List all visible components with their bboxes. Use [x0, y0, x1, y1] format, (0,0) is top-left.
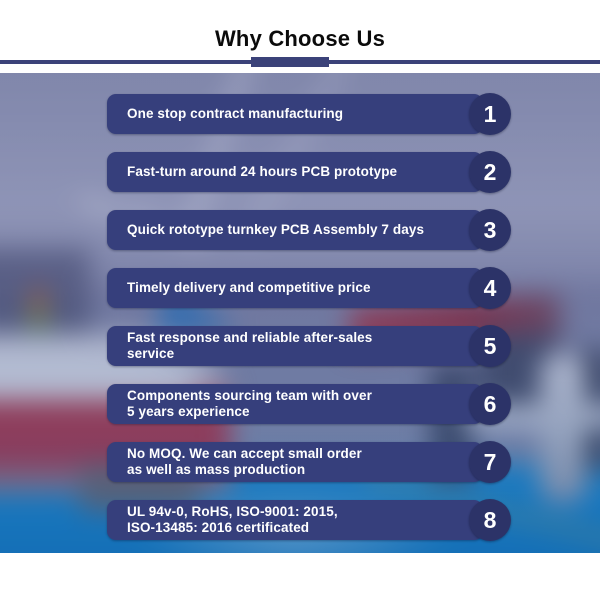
list-item[interactable]: No MOQ. We can accept small order as wel… [107, 442, 512, 482]
list-item[interactable]: Fast response and reliable after-sales s… [107, 326, 512, 366]
feature-number-badge: 8 [469, 499, 511, 541]
feature-number-badge: 2 [469, 151, 511, 193]
page-title: Why Choose Us [0, 26, 600, 52]
feature-list: One stop contract manufacturing 1 Fast-t… [0, 73, 600, 553]
feature-number-badge: 4 [469, 267, 511, 309]
feature-number-badge: 7 [469, 441, 511, 483]
feature-text: Components sourcing team with over 5 yea… [127, 384, 469, 424]
title-divider-center-accent [251, 57, 329, 67]
list-item[interactable]: One stop contract manufacturing 1 [107, 94, 512, 134]
list-item[interactable]: Quick rototype turnkey PCB Assembly 7 da… [107, 210, 512, 250]
feature-text: Fast-turn around 24 hours PCB prototype [127, 152, 469, 192]
feature-number-badge: 1 [469, 93, 511, 135]
list-item[interactable]: Components sourcing team with over 5 yea… [107, 384, 512, 424]
list-item[interactable]: UL 94v-0, RoHS, ISO-9001: 2015, ISO-1348… [107, 500, 512, 540]
feature-text: Fast response and reliable after-sales s… [127, 326, 469, 366]
feature-text: Timely delivery and competitive price [127, 268, 469, 308]
why-choose-us-page: Why Choose Us [0, 0, 600, 600]
list-item[interactable]: Timely delivery and competitive price 4 [107, 268, 512, 308]
feature-text: No MOQ. We can accept small order as wel… [127, 442, 469, 482]
feature-text: One stop contract manufacturing [127, 94, 469, 134]
feature-number-badge: 3 [469, 209, 511, 251]
feature-text: UL 94v-0, RoHS, ISO-9001: 2015, ISO-1348… [127, 500, 469, 540]
feature-number-badge: 5 [469, 325, 511, 367]
page-header: Why Choose Us [0, 0, 600, 73]
list-item[interactable]: Fast-turn around 24 hours PCB prototype … [107, 152, 512, 192]
feature-text: Quick rototype turnkey PCB Assembly 7 da… [127, 210, 469, 250]
feature-number-badge: 6 [469, 383, 511, 425]
